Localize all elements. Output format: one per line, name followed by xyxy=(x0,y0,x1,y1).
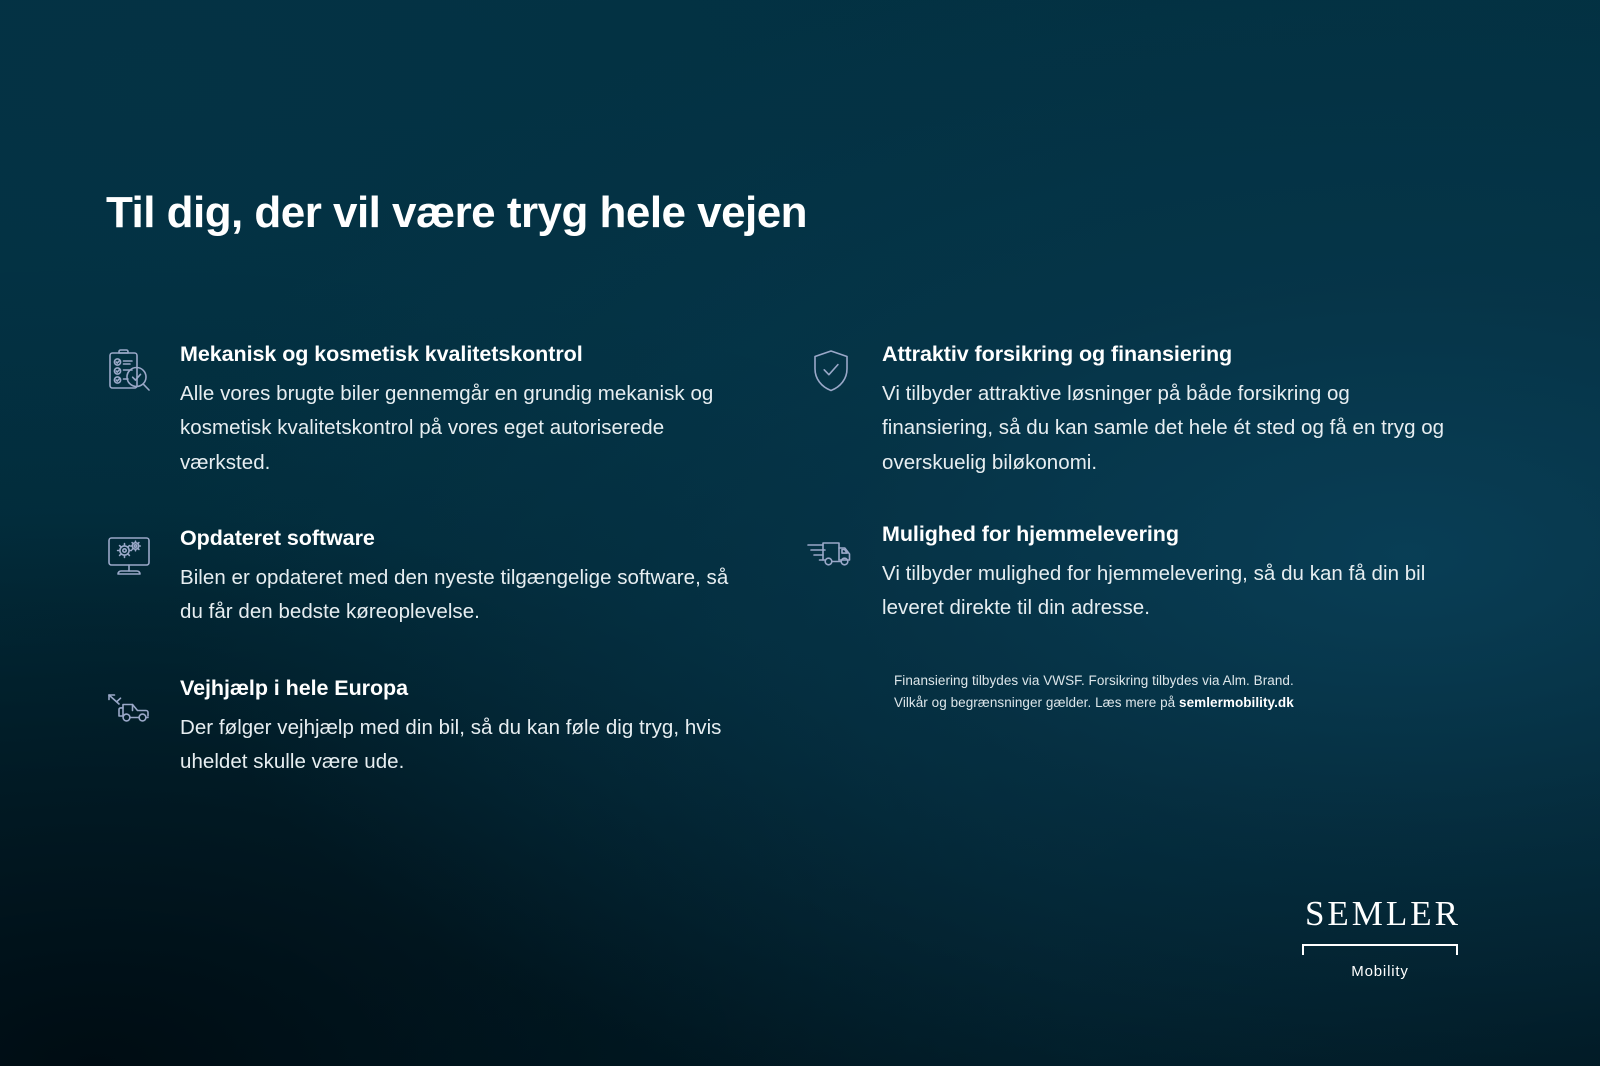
feature-item-insurance-financing: Attraktiv forsikring og finansiering Vi … xyxy=(802,340,1462,480)
poster-background: Til dig, der vil være tryg hele vejen xyxy=(0,0,1600,1066)
feature-text: Vejhjælp i hele Europa Der følger vejhjæ… xyxy=(180,674,740,780)
logo-subtitle: Mobility xyxy=(1302,964,1458,979)
feature-text: Mekanisk og kosmetisk kvalitetskontrol A… xyxy=(180,340,740,480)
feature-title: Opdateret software xyxy=(180,526,740,552)
disclaimer-line-2-prefix: Vilkår og begrænsninger gælder. Læs mere… xyxy=(894,695,1179,710)
feature-column-right: Attraktiv forsikring og finansiering Vi … xyxy=(802,340,1462,626)
feature-item-updated-software: Opdateret software Bilen er opdateret me… xyxy=(100,524,740,630)
poster-content: Til dig, der vil være tryg hele vejen xyxy=(0,0,1600,1066)
feature-column-left: Mekanisk og kosmetisk kvalitetskontrol A… xyxy=(100,340,740,779)
feature-text: Opdateret software Bilen er opdateret me… xyxy=(180,524,740,630)
feature-body: Der følger vejhjælp med din bil, så du k… xyxy=(180,711,740,780)
feature-text: Attraktiv forsikring og finansiering Vi … xyxy=(882,340,1462,480)
feature-item-quality-control: Mekanisk og kosmetisk kvalitetskontrol A… xyxy=(100,340,740,480)
feature-title: Mulighed for hjemmelevering xyxy=(882,522,1462,548)
disclaimer-text: Finansiering tilbydes via VWSF. Forsikri… xyxy=(894,670,1414,714)
tow-truck-icon xyxy=(100,674,158,726)
feature-item-home-delivery: Mulighed for hjemmelevering Vi tilbyder … xyxy=(802,520,1462,626)
feature-title: Mekanisk og kosmetisk kvalitetskontrol xyxy=(180,342,740,368)
delivery-truck-icon xyxy=(802,520,860,572)
logo-wordmark: SEMLER xyxy=(1302,896,1458,931)
feature-title: Attraktiv forsikring og finansiering xyxy=(882,342,1462,368)
page-title: Til dig, der vil være tryg hele vejen xyxy=(106,188,807,238)
feature-body: Alle vores brugte biler gennemgår en gru… xyxy=(180,377,740,480)
feature-text: Mulighed for hjemmelevering Vi tilbyder … xyxy=(882,520,1462,626)
logo-divider-rule xyxy=(1302,944,1458,955)
feature-item-roadside-assistance: Vejhjælp i hele Europa Der følger vejhjæ… xyxy=(100,674,740,780)
disclaimer-line-1: Finansiering tilbydes via VWSF. Forsikri… xyxy=(894,673,1294,688)
feature-body: Vi tilbyder mulighed for hjemmelevering,… xyxy=(882,557,1462,626)
disclaimer-website-link[interactable]: semlermobility.dk xyxy=(1179,695,1294,710)
shield-check-icon xyxy=(802,340,860,392)
semler-mobility-logo: SEMLER Mobility xyxy=(1302,896,1458,979)
clipboard-check-magnifier-icon xyxy=(100,340,158,392)
feature-body: Vi tilbyder attraktive løsninger på både… xyxy=(882,377,1462,480)
feature-body: Bilen er opdateret med den nyeste tilgæn… xyxy=(180,561,740,630)
feature-title: Vejhjælp i hele Europa xyxy=(180,676,740,702)
monitor-gears-icon xyxy=(100,524,158,576)
